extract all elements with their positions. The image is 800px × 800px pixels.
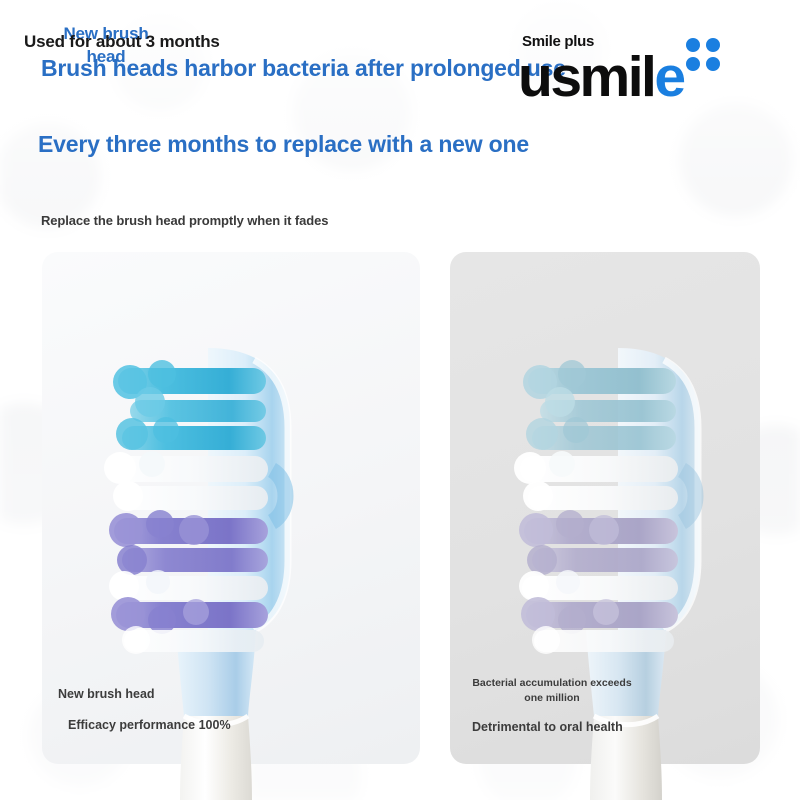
logo-wordmark: usmile bbox=[518, 49, 684, 106]
brand-logo: Smile plus usmile bbox=[518, 33, 768, 113]
card-title-used: Used for about 3 months bbox=[24, 32, 220, 52]
caption-used-primary: Bacterial accumulation exceeds one milli… bbox=[472, 676, 632, 706]
caption-new-primary: New brush head bbox=[58, 687, 155, 701]
headline-secondary: Every three months to replace with a new… bbox=[38, 131, 529, 158]
logo-wordmark-tail: e bbox=[654, 45, 683, 109]
logo-dots-icon bbox=[686, 38, 724, 72]
caption-new-secondary: Efficacy performance 100% bbox=[68, 718, 231, 732]
logo-wordmark-prefix: usmil bbox=[518, 45, 654, 109]
caption-used-secondary: Detrimental to oral health bbox=[472, 720, 623, 734]
subheadline: Replace the brush head promptly when it … bbox=[41, 213, 328, 228]
